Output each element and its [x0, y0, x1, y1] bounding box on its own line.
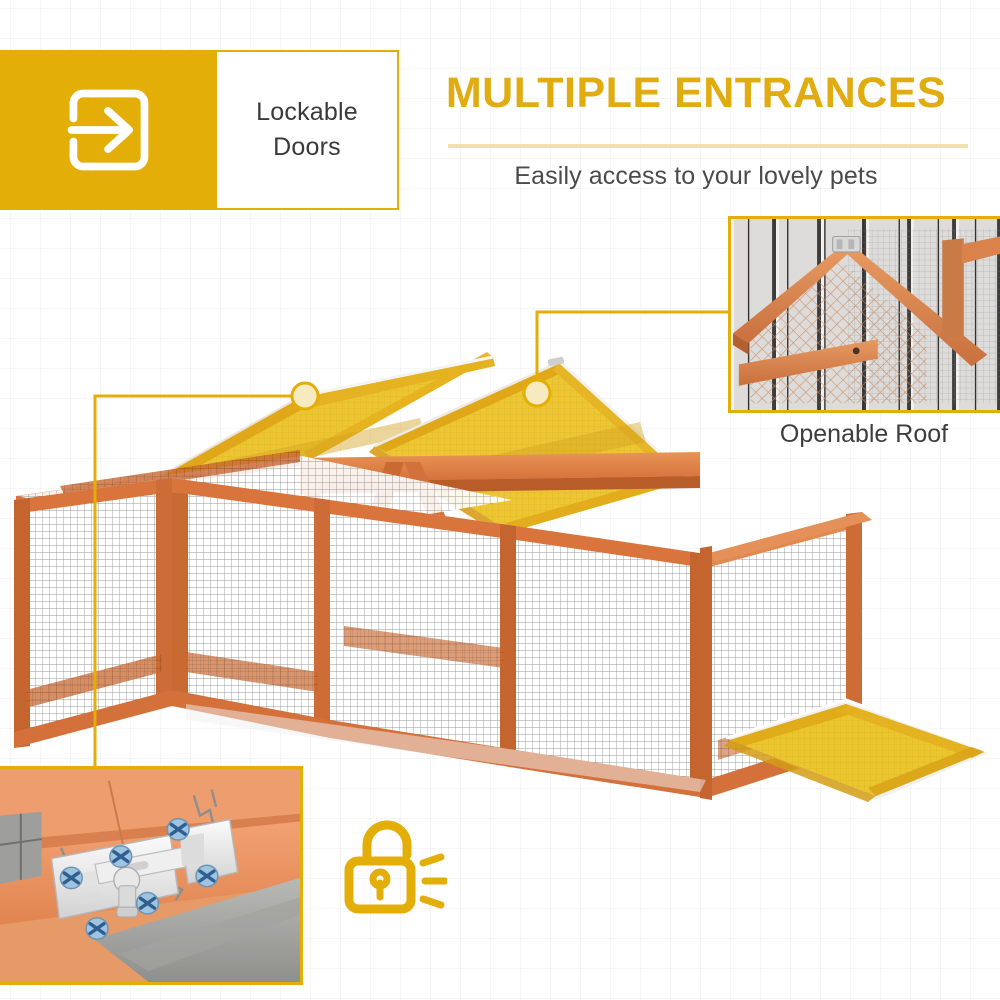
feature-badge-label-block: Lockable Doors: [215, 50, 399, 210]
feature-badge-label-line1: Lockable: [256, 95, 358, 131]
inset-caption-openable-roof: Openable Roof: [728, 420, 1000, 449]
headline-block: MULTIPLE ENTRANCES: [408, 72, 984, 115]
feature-badge-label-line2: Doors: [256, 130, 358, 166]
feature-badge-icon-block: [0, 50, 216, 210]
page-title: MULTIPLE ENTRANCES: [408, 72, 984, 115]
openable-roof-photo: [731, 219, 1000, 410]
inset-photo-lockable-latch: [0, 766, 303, 985]
lockable-latch-photo: [0, 769, 300, 982]
door-enter-arrow-icon: [60, 82, 156, 178]
open-padlock-icon: [337, 815, 447, 920]
title-divider: [448, 144, 968, 148]
marketing-image-canvas: Lockable Doors MULTIPLE ENTRANCES Easily…: [0, 0, 1000, 1000]
page-subtitle: Easily access to your lovely pets: [408, 162, 984, 191]
inset-photo-openable-roof: [728, 216, 1000, 413]
feature-badge-label: Lockable Doors: [256, 95, 358, 166]
